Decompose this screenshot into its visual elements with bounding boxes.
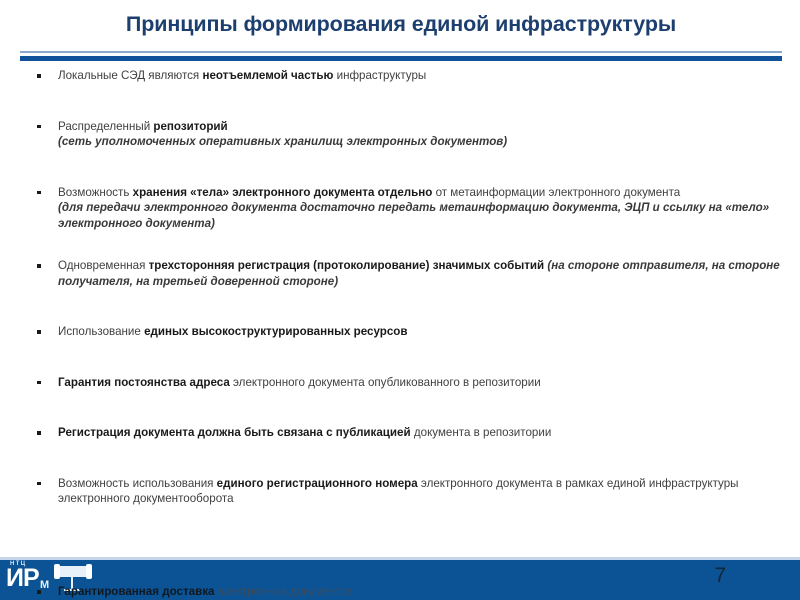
spacer [0,340,800,375]
bullet-marker-icon [37,482,41,486]
list-item: Гарантия постоянства адреса электронного… [0,375,800,391]
spacer [0,150,800,185]
presentation-slide: Принципы формирования единой инфраструкт… [0,0,800,600]
bullet-list: Локальные СЭД являются неотъемлемой част… [0,68,800,507]
bullet-marker-icon [37,590,41,594]
spacer [0,390,800,425]
list-item-text: Возможность использования единого регист… [58,476,782,507]
list-item: Регистрация документа должна быть связан… [0,425,800,441]
list-item-text: Возможность хранения «тела» электронного… [58,185,782,201]
scroll-icon [52,564,94,580]
spacer [0,84,800,119]
list-item-text: Использование единых высокоструктурирова… [58,324,782,340]
list-item-text: Одновременная трехсторонняя регистрация … [58,258,782,289]
bullet-marker-icon [37,330,41,334]
list-item: Возможность хранения «тела» электронного… [0,185,800,232]
list-item-text: Локальные СЭД являются неотъемлемой част… [58,68,782,84]
divider-thin-line [20,51,782,53]
bullet-marker-icon [37,74,41,78]
page-title: Принципы формирования единой инфраструкт… [20,10,782,38]
list-item-note: (для передачи электронного документа дос… [58,200,782,231]
list-item: Распределенный репозиторий (сеть уполном… [0,119,800,150]
bullet-marker-icon [37,431,41,435]
bullet-marker-icon [37,381,41,385]
title-divider [20,51,782,63]
divider-thick-line [20,56,782,61]
list-item: Локальные СЭД являются неотъемлемой част… [0,68,800,84]
list-item-text: Распределенный репозиторий [58,119,782,135]
list-item-note: (сеть уполномоченных оперативных хранили… [58,134,782,150]
list-item: Использование единых высокоструктурирова… [0,324,800,340]
spacer [0,441,800,476]
bullet-marker-icon [37,264,41,268]
list-item: Одновременная трехсторонняя регистрация … [0,258,800,289]
list-item-text: Гарантированная доставка электронных док… [58,584,782,600]
bullet-marker-icon [37,191,41,195]
spacer [0,231,800,258]
list-item: Гарантированная доставка электронных док… [0,584,800,600]
bullet-marker-icon [37,125,41,129]
list-item: Возможность использования единого регист… [0,476,800,507]
list-item-text: Гарантия постоянства адреса электронного… [58,375,782,391]
spacer [0,289,800,324]
list-item-text: Регистрация документа должна быть связан… [58,425,782,441]
